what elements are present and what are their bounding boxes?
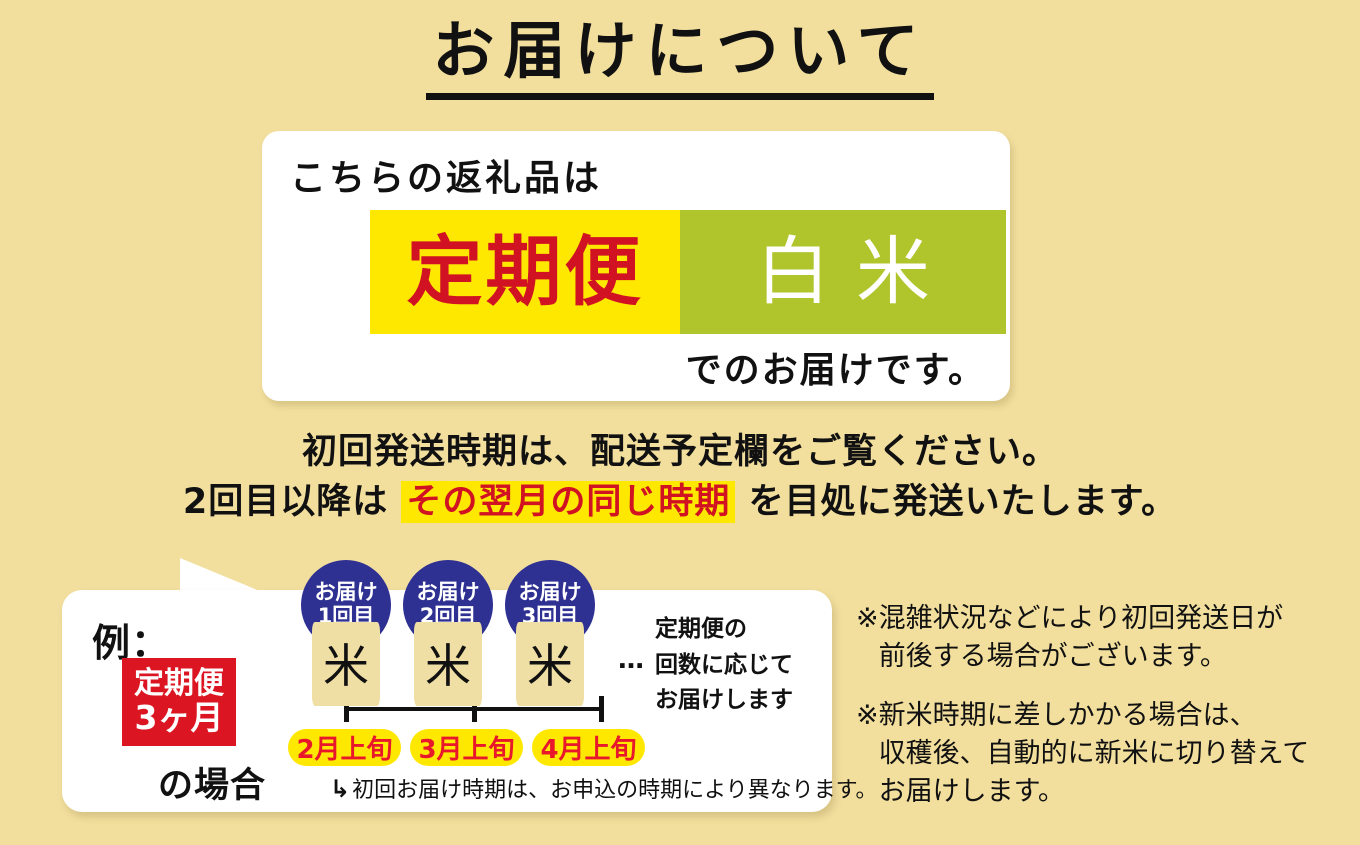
plan-line-2: 3ヶ月 — [135, 700, 224, 736]
example-footnote: ↳初回お届け時期は、お申込の時期により異なります。 — [330, 772, 877, 804]
rice-bag-icon-1: 米 — [312, 622, 380, 706]
side-note-1-body: 混雑状況などにより初回発送日が 前後する場合がございます。 — [879, 600, 1283, 677]
repeat-note-line-1: 定期便の — [655, 612, 793, 648]
delivery-step-1-line1: お届け — [315, 581, 378, 605]
rice-glyph-3: 米 — [527, 643, 573, 689]
delivery-step-2-line1: お届け — [417, 581, 480, 605]
side-note-2-line-2: 収穫後、自動的に新米に切り替えて — [879, 738, 1310, 769]
repeat-note-line-3: お届けします — [655, 683, 793, 719]
side-note-1-mark: ※ — [856, 600, 879, 677]
side-note-1-line-1: 混雑状況などにより初回発送日が — [879, 603, 1283, 634]
plan-line-1: 定期便 — [134, 668, 224, 700]
example-footnote-text: 初回お届け時期は、お申込の時期により異なります。 — [352, 778, 877, 803]
notice-line-1: 初回発送時期は、配送予定欄をご覧ください。 — [0, 428, 1360, 478]
title-block: お届けについて — [0, 18, 1360, 100]
notice-line-2: 2回目以降は その翌月の同じ時期 を目処に発送いたします。 — [0, 478, 1360, 528]
notice-line-2-after: を目処に発送いたします。 — [735, 482, 1177, 522]
teikibin-badge-label: 定期便 — [407, 234, 644, 310]
date-pill-1: 2月上旬 — [288, 729, 401, 766]
timeline-measure-bar — [344, 707, 604, 711]
rice-bag-icon-3: 米 — [516, 622, 584, 706]
arrow-icon: ↳ — [330, 775, 350, 803]
hakumai-badge: 白米 — [680, 210, 1006, 334]
plan-suffix: の場合 — [158, 757, 266, 808]
repeat-note-line-2: 回数に応じて — [655, 648, 793, 684]
hakumai-badge-label: 白米 — [730, 235, 956, 309]
side-note-2-line-1: 新米時期に差しかかる場合は、 — [879, 700, 1257, 731]
ellipsis-icon: … — [618, 645, 646, 675]
card-lead-text: こちらの返礼品は — [290, 149, 602, 201]
side-note-2-body: 新米時期に差しかかる場合は、 収穫後、自動的に新米に切り替えて お届けします。 — [879, 697, 1310, 812]
rice-glyph-2: 米 — [425, 643, 471, 689]
rice-glyph-1: 米 — [323, 643, 369, 689]
badge-row: 定期便 白米 — [370, 210, 1006, 334]
product-type-card: こちらの返礼品は 定期便 白米 でのお届けです。 — [262, 131, 1010, 401]
side-notes: ※ 混雑状況などにより初回発送日が 前後する場合がございます。 ※ 新米時期に差… — [856, 600, 1352, 832]
repeat-note: 定期便の 回数に応じて お届けします — [655, 612, 793, 719]
side-note-2: ※ 新米時期に差しかかる場合は、 収穫後、自動的に新米に切り替えて お届けします… — [856, 697, 1352, 812]
plan-box: 定期便 3ヶ月 — [122, 658, 236, 746]
date-pill-3: 4月上旬 — [532, 729, 645, 766]
delivery-step-3-line1: お届け — [519, 581, 582, 605]
side-note-1-line-2: 前後する場合がございます。 — [879, 641, 1227, 672]
card-tail-text: でのお届けです。 — [686, 341, 986, 393]
notice-line-2-before: 2回目以降は — [183, 482, 402, 522]
date-pill-2: 3月上旬 — [410, 729, 523, 766]
measure-tick-3 — [599, 696, 604, 722]
notice-line-2-highlight: その翌月の同じ時期 — [401, 481, 735, 523]
side-note-2-line-3: お届けします。 — [879, 776, 1065, 807]
notice-lines: 初回発送時期は、配送予定欄をご覧ください。 2回目以降は その翌月の同じ時期 を… — [0, 428, 1360, 527]
side-note-1: ※ 混雑状況などにより初回発送日が 前後する場合がございます。 — [856, 600, 1352, 677]
rice-bag-icon-2: 米 — [414, 622, 482, 706]
teikibin-badge: 定期便 — [370, 210, 680, 334]
side-note-2-mark: ※ — [856, 697, 879, 812]
page-title: お届けについて — [426, 18, 933, 100]
